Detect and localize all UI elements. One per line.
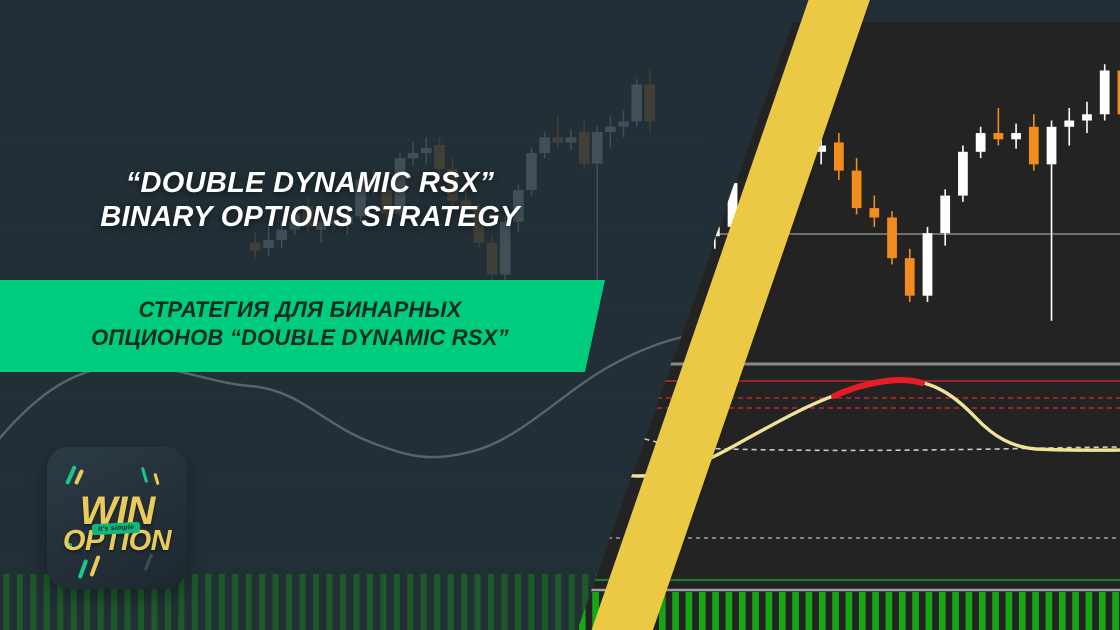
logo-spark-6 — [89, 555, 100, 577]
rsx-alert-segment — [834, 380, 922, 396]
poster-canvas: “Double Dynamic RSX” Binary Options Stra… — [0, 0, 1120, 630]
logo-spark-2 — [74, 469, 84, 485]
banner-line-1: Стратегия для бинарных — [0, 296, 600, 324]
banner-line-2: Опционов “Double Dynamic RSX” — [0, 324, 600, 352]
logo-spark-3 — [141, 467, 148, 483]
logo-spark-5 — [78, 559, 89, 579]
banner-subtitle: Стратегия для бинарных Опционов “Double … — [0, 283, 600, 352]
logo-spark-4 — [153, 473, 159, 485]
page-title: “Double Dynamic RSX” Binary Options Stra… — [0, 166, 620, 234]
headline-line-1: “Double Dynamic RSX” — [0, 166, 620, 200]
winoption-logo[interactable]: WIN it's simple OPTION — [47, 447, 187, 589]
headline-line-2: Binary Options Strategy — [0, 200, 620, 234]
